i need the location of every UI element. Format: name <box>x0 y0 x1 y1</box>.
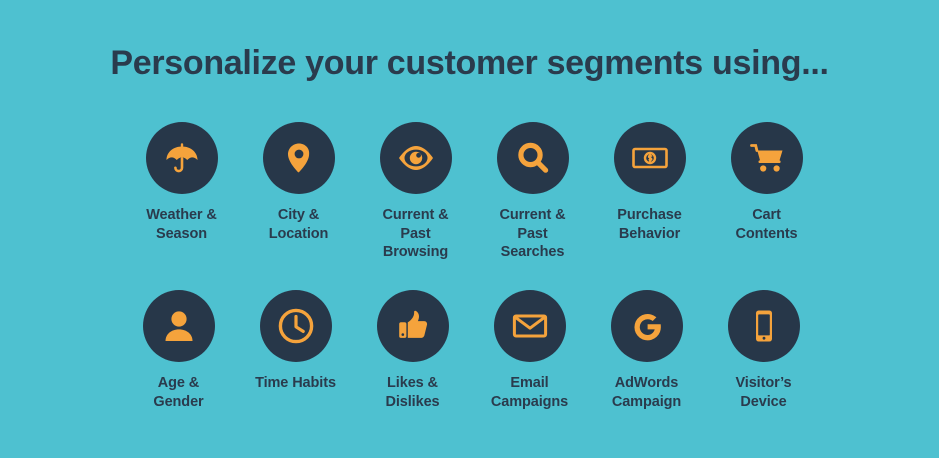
icon-row-2: Age & Gender Time Habits <box>120 290 822 411</box>
segment-label: Current & Past Searches <box>500 206 566 262</box>
segment-item-adwords-campaign[interactable]: AdWords Campaign <box>588 290 705 411</box>
banknote-icon <box>629 137 671 179</box>
icon-circle <box>380 122 452 194</box>
mobile-phone-icon <box>745 307 783 345</box>
shopping-cart-icon <box>747 138 787 178</box>
segment-item-age-gender[interactable]: Age & Gender <box>120 290 237 411</box>
segment-label: Likes & Dislikes <box>385 374 439 411</box>
envelope-icon <box>510 306 550 346</box>
icon-circle <box>497 122 569 194</box>
page-title: Personalize your customer segments using… <box>0 44 939 83</box>
person-icon <box>160 307 198 345</box>
segment-item-likes-dislikes[interactable]: Likes & Dislikes <box>354 290 471 411</box>
segment-label: Age & Gender <box>153 374 203 411</box>
icon-circle <box>494 290 566 362</box>
umbrella-icon <box>162 138 202 178</box>
google-g-icon <box>627 306 667 346</box>
segment-label: Visitor’s Device <box>735 374 791 411</box>
segment-item-visitors-device[interactable]: Visitor’s Device <box>705 290 822 411</box>
segment-label: Email Campaigns <box>491 374 568 411</box>
magnifier-icon <box>513 138 553 178</box>
location-pin-icon <box>279 138 319 178</box>
segment-item-current-past-browsing[interactable]: Current & Past Browsing <box>357 122 474 262</box>
segment-item-weather-season[interactable]: Weather & Season <box>123 122 240 243</box>
icon-circle <box>146 122 218 194</box>
icon-circle <box>731 122 803 194</box>
thumbs-up-icon <box>393 306 433 346</box>
segment-item-current-past-searches[interactable]: Current & Past Searches <box>474 122 591 262</box>
infographic-canvas: Personalize your customer segments using… <box>0 0 939 458</box>
icon-circle <box>728 290 800 362</box>
segment-label: Purchase Behavior <box>617 206 682 243</box>
segment-item-purchase-behavior[interactable]: Purchase Behavior <box>591 122 708 243</box>
segment-item-cart-contents[interactable]: Cart Contents <box>708 122 825 243</box>
icon-circle <box>260 290 332 362</box>
clock-icon <box>276 306 316 346</box>
icon-row-1: Weather & Season City & Location <box>123 122 825 262</box>
segment-item-time-habits[interactable]: Time Habits <box>237 290 354 393</box>
icon-circle <box>614 122 686 194</box>
eye-icon <box>395 137 437 179</box>
icon-circle <box>377 290 449 362</box>
icon-circle <box>143 290 215 362</box>
segment-label: Current & Past Browsing <box>383 206 449 262</box>
segment-item-email-campaigns[interactable]: Email Campaigns <box>471 290 588 411</box>
icon-circle <box>611 290 683 362</box>
segment-label: City & Location <box>269 206 329 243</box>
segment-label: AdWords Campaign <box>612 374 681 411</box>
segment-item-city-location[interactable]: City & Location <box>240 122 357 243</box>
icon-circle <box>263 122 335 194</box>
segment-label: Cart Contents <box>735 206 797 243</box>
segment-label: Weather & Season <box>146 206 217 243</box>
segment-label: Time Habits <box>255 374 336 393</box>
